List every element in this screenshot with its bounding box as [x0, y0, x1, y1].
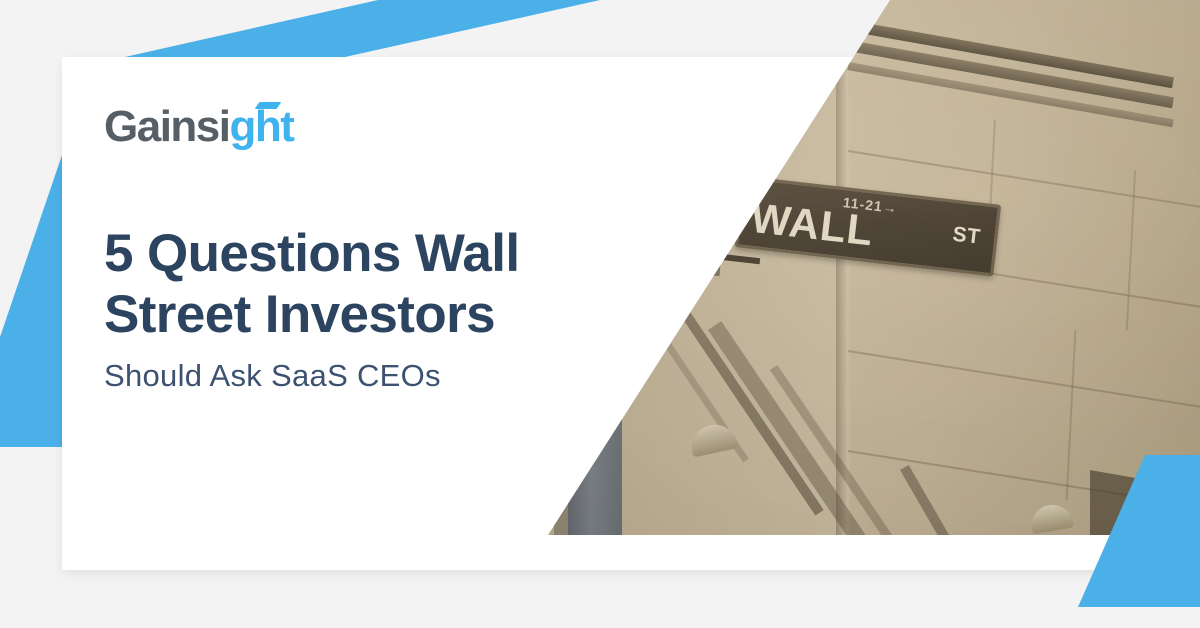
blue-parallelogram-top: [0, 0, 1200, 57]
page-title: 5 Questions Wall Street Investors: [104, 223, 664, 346]
gainsight-logo[interactable]: Gainsight: [104, 105, 293, 149]
social-card-canvas: Gainsight 5 Questions Wall Street Invest…: [0, 0, 1200, 628]
logo-text-mid: g: [230, 102, 255, 151]
blue-parallelogram-left-fill: [0, 57, 62, 447]
headline-line-2: Street Investors: [104, 284, 664, 345]
content-card: Gainsight 5 Questions Wall Street Invest…: [62, 57, 1200, 570]
blue-parallelogram-top-fill: [0, 0, 1200, 57]
blue-parallelogram-left: [0, 57, 62, 447]
headline-line-1: 5 Questions Wall: [104, 223, 664, 284]
logo-text-dark: Gainsi: [104, 102, 230, 151]
logo-text-blue: ht: [255, 105, 294, 149]
page-subtitle: Should Ask SaaS CEOs: [104, 357, 441, 396]
